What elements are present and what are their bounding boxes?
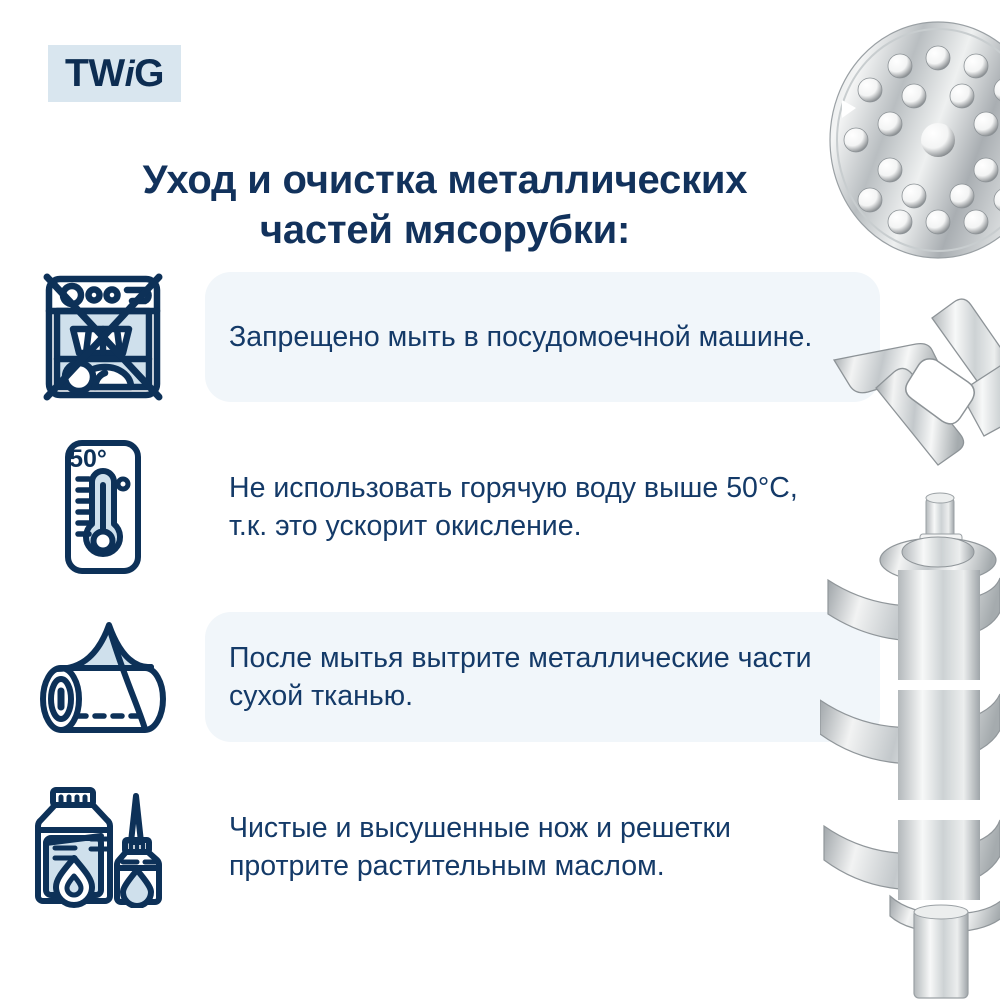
tip-row-3: После мытья вытрите металлические части … [0, 602, 880, 752]
tip-text-1: Запрещено мыть в посудомоечной машине. [229, 318, 812, 356]
tip-text-2: Не использовать горячую воду выше 50°C, … [229, 469, 829, 546]
thermometer-50-icon: 50° [55, 437, 151, 577]
tip-card-1: Запрещено мыть в посудомоечной машине. [205, 272, 880, 402]
tip-icon-cell-4 [0, 772, 205, 922]
logo-text-italic: i [125, 53, 135, 94]
tip-text-3: После мытья вытрите металлические части … [229, 639, 829, 716]
towel-roll-icon [37, 617, 169, 737]
tip-icon-cell-3 [0, 602, 205, 752]
oil-bottles-icon [33, 786, 173, 908]
page-title: Уход и очистка металлических частей мясо… [40, 155, 850, 255]
tip-row-1: Запрещено мыть в посудомоечной машине. [0, 262, 880, 412]
tip-icon-cell-2: 50° [0, 432, 205, 582]
page-title-line-2: частей мясорубки: [260, 208, 630, 252]
tip-row-4: Чистые и высушенные нож и решетки протри… [0, 772, 880, 922]
grinder-plate-photo [830, 22, 1000, 258]
brand-logo: TWiG [48, 45, 181, 102]
brand-logo-text: TWiG [65, 54, 164, 93]
tip-card-4: Чистые и высушенные нож и решетки протри… [205, 782, 880, 912]
tip-card-2: Не использовать горячую воду выше 50°C, … [205, 442, 880, 572]
tip-row-2: 50° Не использовать горячую воду выше 50… [0, 432, 880, 582]
thermometer-value-label: 50° [69, 445, 107, 473]
tip-card-3: После мытья вытрите металлические части … [205, 612, 880, 742]
logo-text-part-2: G [134, 52, 164, 95]
tip-text-4: Чистые и высушенные нож и решетки протри… [229, 809, 829, 886]
page-title-line-1: Уход и очистка металлических [143, 158, 748, 202]
tip-icon-cell-1 [0, 262, 205, 412]
no-dishwasher-icon [39, 267, 167, 407]
logo-text-part-1: TW [65, 52, 125, 95]
